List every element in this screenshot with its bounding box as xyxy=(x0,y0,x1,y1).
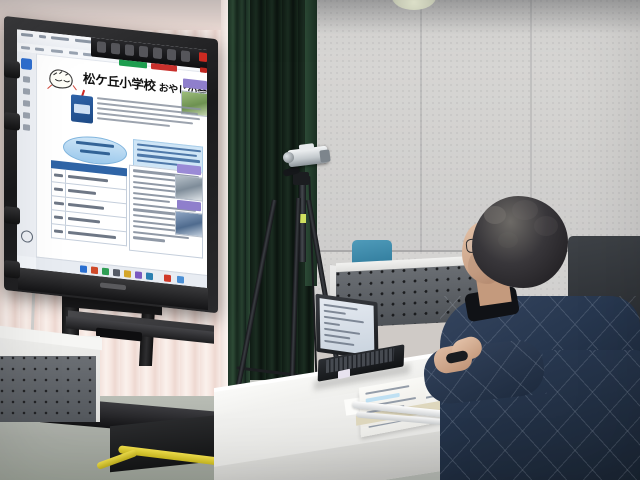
display-wall-mounts xyxy=(4,16,18,292)
display-power-led xyxy=(200,67,207,73)
taskbar-icon-5[interactable] xyxy=(124,270,131,278)
presentation-app-window: 松ケ丘小学校 おやじの会 xyxy=(17,29,207,288)
sidebar-logo-icon xyxy=(21,58,32,70)
display-screen[interactable]: 松ケ丘小学校 おやじの会 xyxy=(17,29,207,288)
conf-record-icon[interactable] xyxy=(167,49,176,61)
laptop-screen[interactable] xyxy=(320,298,375,356)
sidebar-item-2[interactable] xyxy=(23,88,30,95)
taskbar-icon-9[interactable] xyxy=(177,275,184,283)
sidebar-item-1[interactable] xyxy=(23,76,30,83)
sidebar-item-5[interactable] xyxy=(23,124,30,131)
close-icon[interactable] xyxy=(199,52,207,62)
slide-thumbnail-2 xyxy=(175,175,203,202)
taskbar-icon-8[interactable] xyxy=(164,274,171,282)
sidebar-item-3[interactable] xyxy=(23,100,30,107)
conf-more-icon[interactable] xyxy=(181,50,190,62)
wall-acoustic-panel xyxy=(282,0,640,252)
conf-chat-icon[interactable] xyxy=(153,47,162,59)
photo-scene: 松ケ丘小学校 おやじの会 xyxy=(0,0,640,480)
sidebar-account-icon[interactable] xyxy=(21,230,33,243)
wall-panel-seam-v1 xyxy=(420,0,422,252)
conf-camera-icon[interactable] xyxy=(111,43,120,55)
low-cabinet-perforated-panel xyxy=(0,356,96,422)
school-mascot-doodle-icon xyxy=(45,63,79,93)
app-sidebar[interactable] xyxy=(17,51,37,257)
slide-schedule-table xyxy=(51,160,127,246)
conf-participants-icon[interactable] xyxy=(139,46,148,58)
sidebar-item-4[interactable] xyxy=(23,112,30,119)
taskbar-icon-4[interactable] xyxy=(113,268,120,276)
camcorder-viewfinder xyxy=(319,149,330,162)
conf-mic-icon[interactable] xyxy=(97,41,106,53)
slide-title-main: 松ケ丘小学校 xyxy=(83,72,156,94)
conf-share-icon[interactable] xyxy=(125,44,134,56)
taskbar-icon-3[interactable] xyxy=(102,267,109,275)
taskbar-icon-7[interactable] xyxy=(146,272,153,280)
person-hair xyxy=(472,196,568,288)
ceiling-shadow xyxy=(282,0,640,34)
slide-book-icon xyxy=(71,94,93,123)
slide-canvas: 松ケ丘小学校 おやじの会 xyxy=(37,55,207,276)
taskbar-icon-2[interactable] xyxy=(91,266,98,274)
slide-thumbnail-3 xyxy=(175,211,203,238)
flat-panel-display[interactable]: 松ケ丘小学校 おやじの会 xyxy=(4,16,218,313)
taskbar-icon-1[interactable] xyxy=(80,265,87,273)
taskbar-icon-6[interactable] xyxy=(135,271,142,279)
